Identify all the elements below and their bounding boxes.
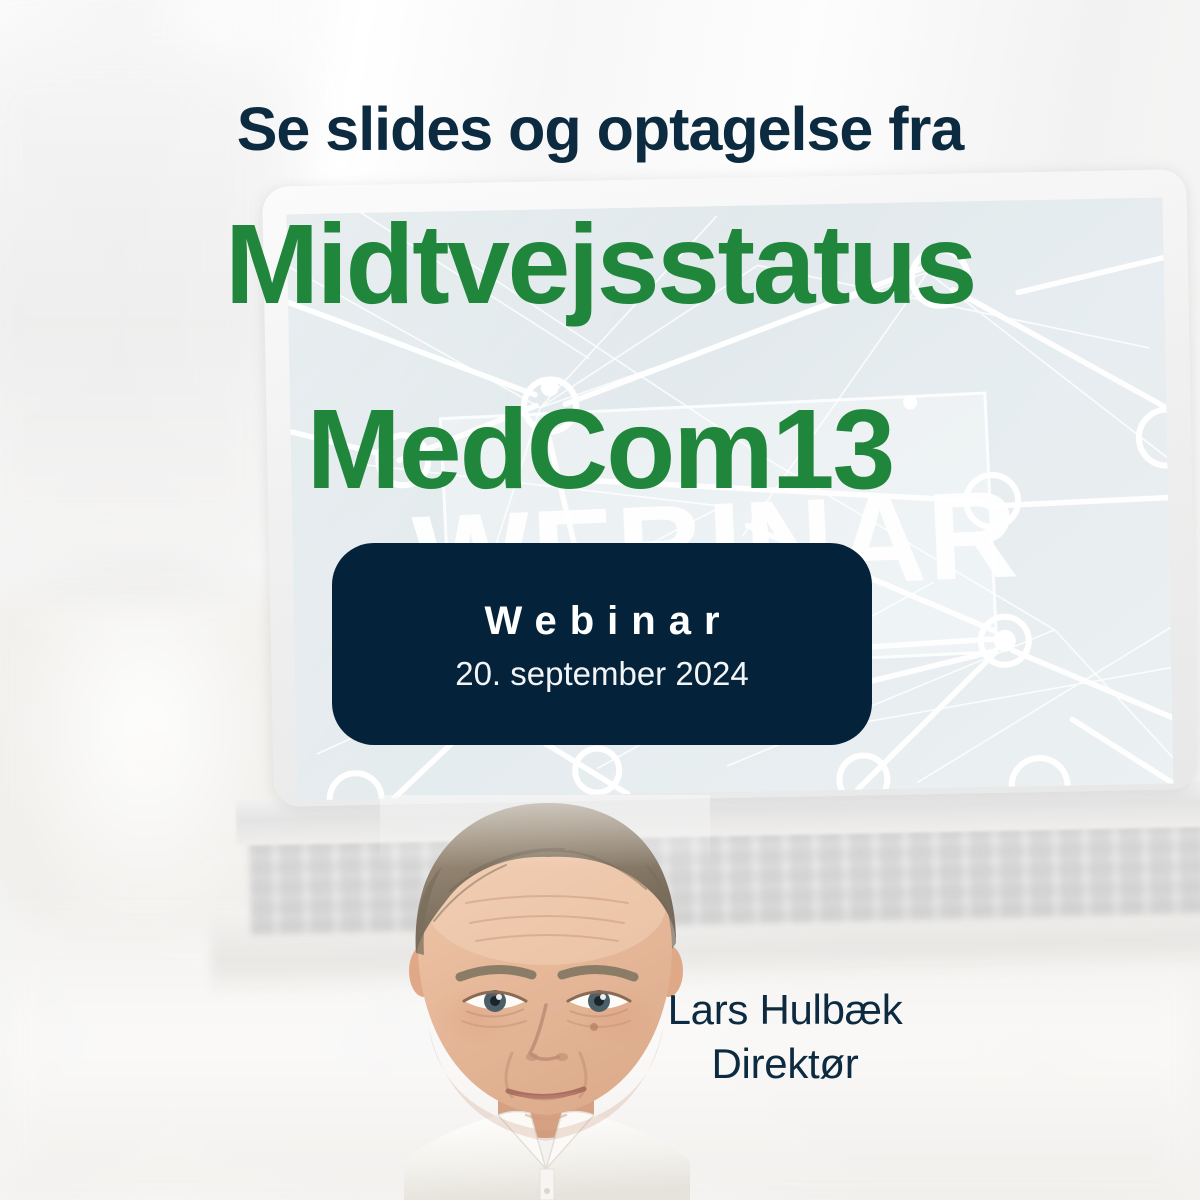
speaker-credit: Lars Hulbæk Direktør	[610, 985, 960, 1088]
badge-date: 20. september 2024	[455, 657, 749, 690]
speaker-role: Direktør	[610, 1039, 960, 1089]
webinar-badge: Webinar 20. september 2024	[332, 543, 872, 745]
speaker-name: Lars Hulbæk	[610, 985, 960, 1035]
webinar-promo-poster: WEBINAR Se slides og optagelse fra Midtv…	[0, 0, 1200, 1200]
badge-label: Webinar	[471, 599, 732, 643]
